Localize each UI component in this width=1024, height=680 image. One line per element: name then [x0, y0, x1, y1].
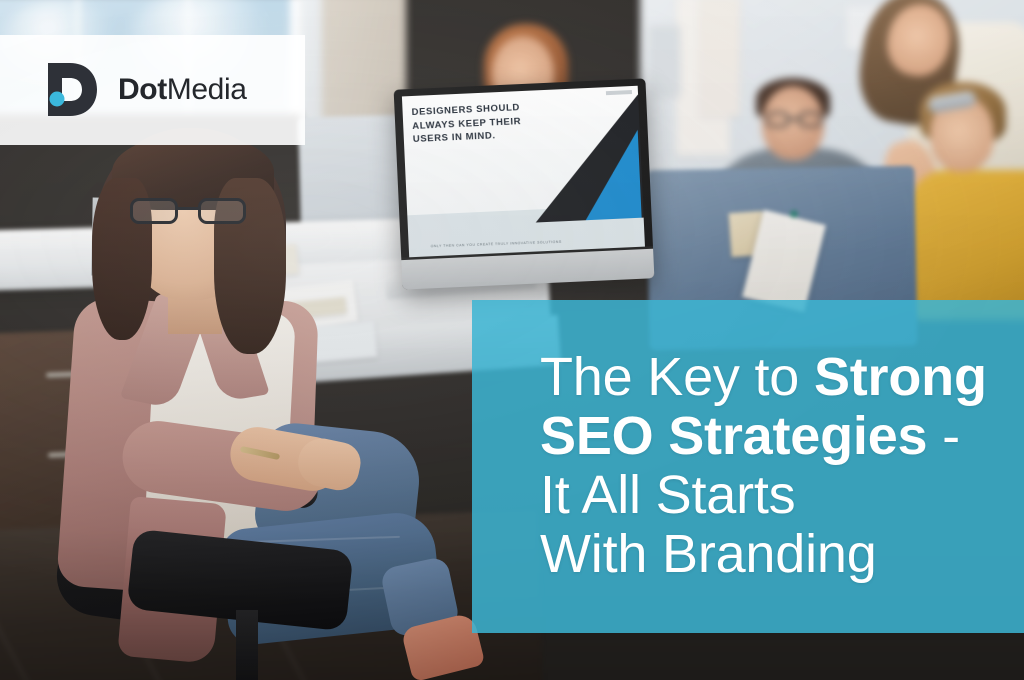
push-pin-icon [790, 210, 798, 218]
page-title: The Key to Strong SEO Strategies - It Al… [540, 348, 1010, 584]
office-chair-post [236, 610, 258, 680]
headline-line-2: SEO Strategies - [540, 407, 1010, 466]
brand-wordmark: DotMedia [118, 73, 247, 107]
brand-name-bold: Dot [118, 73, 167, 106]
eyeglasses-icon [130, 198, 246, 224]
headline-line-2-light: - [927, 406, 960, 466]
eyeglasses-icon [766, 112, 822, 127]
headline-line-1: The Key to Strong [540, 348, 1010, 407]
headline-line-4: With Branding [540, 525, 1010, 584]
dotmedia-d-logo-icon [42, 59, 104, 121]
headline-line-3: It All Starts [540, 466, 1010, 525]
headline-line-2-bold: SEO Strategies [540, 406, 927, 466]
hero-banner: Designers should always keep their users… [0, 0, 1024, 680]
brand-name-regular: Media [167, 73, 247, 106]
headline-line-1-light: The Key to [540, 347, 814, 407]
brand-logo-bar[interactable]: DotMedia [0, 35, 305, 145]
headline-line-1-bold: Strong [814, 347, 987, 407]
